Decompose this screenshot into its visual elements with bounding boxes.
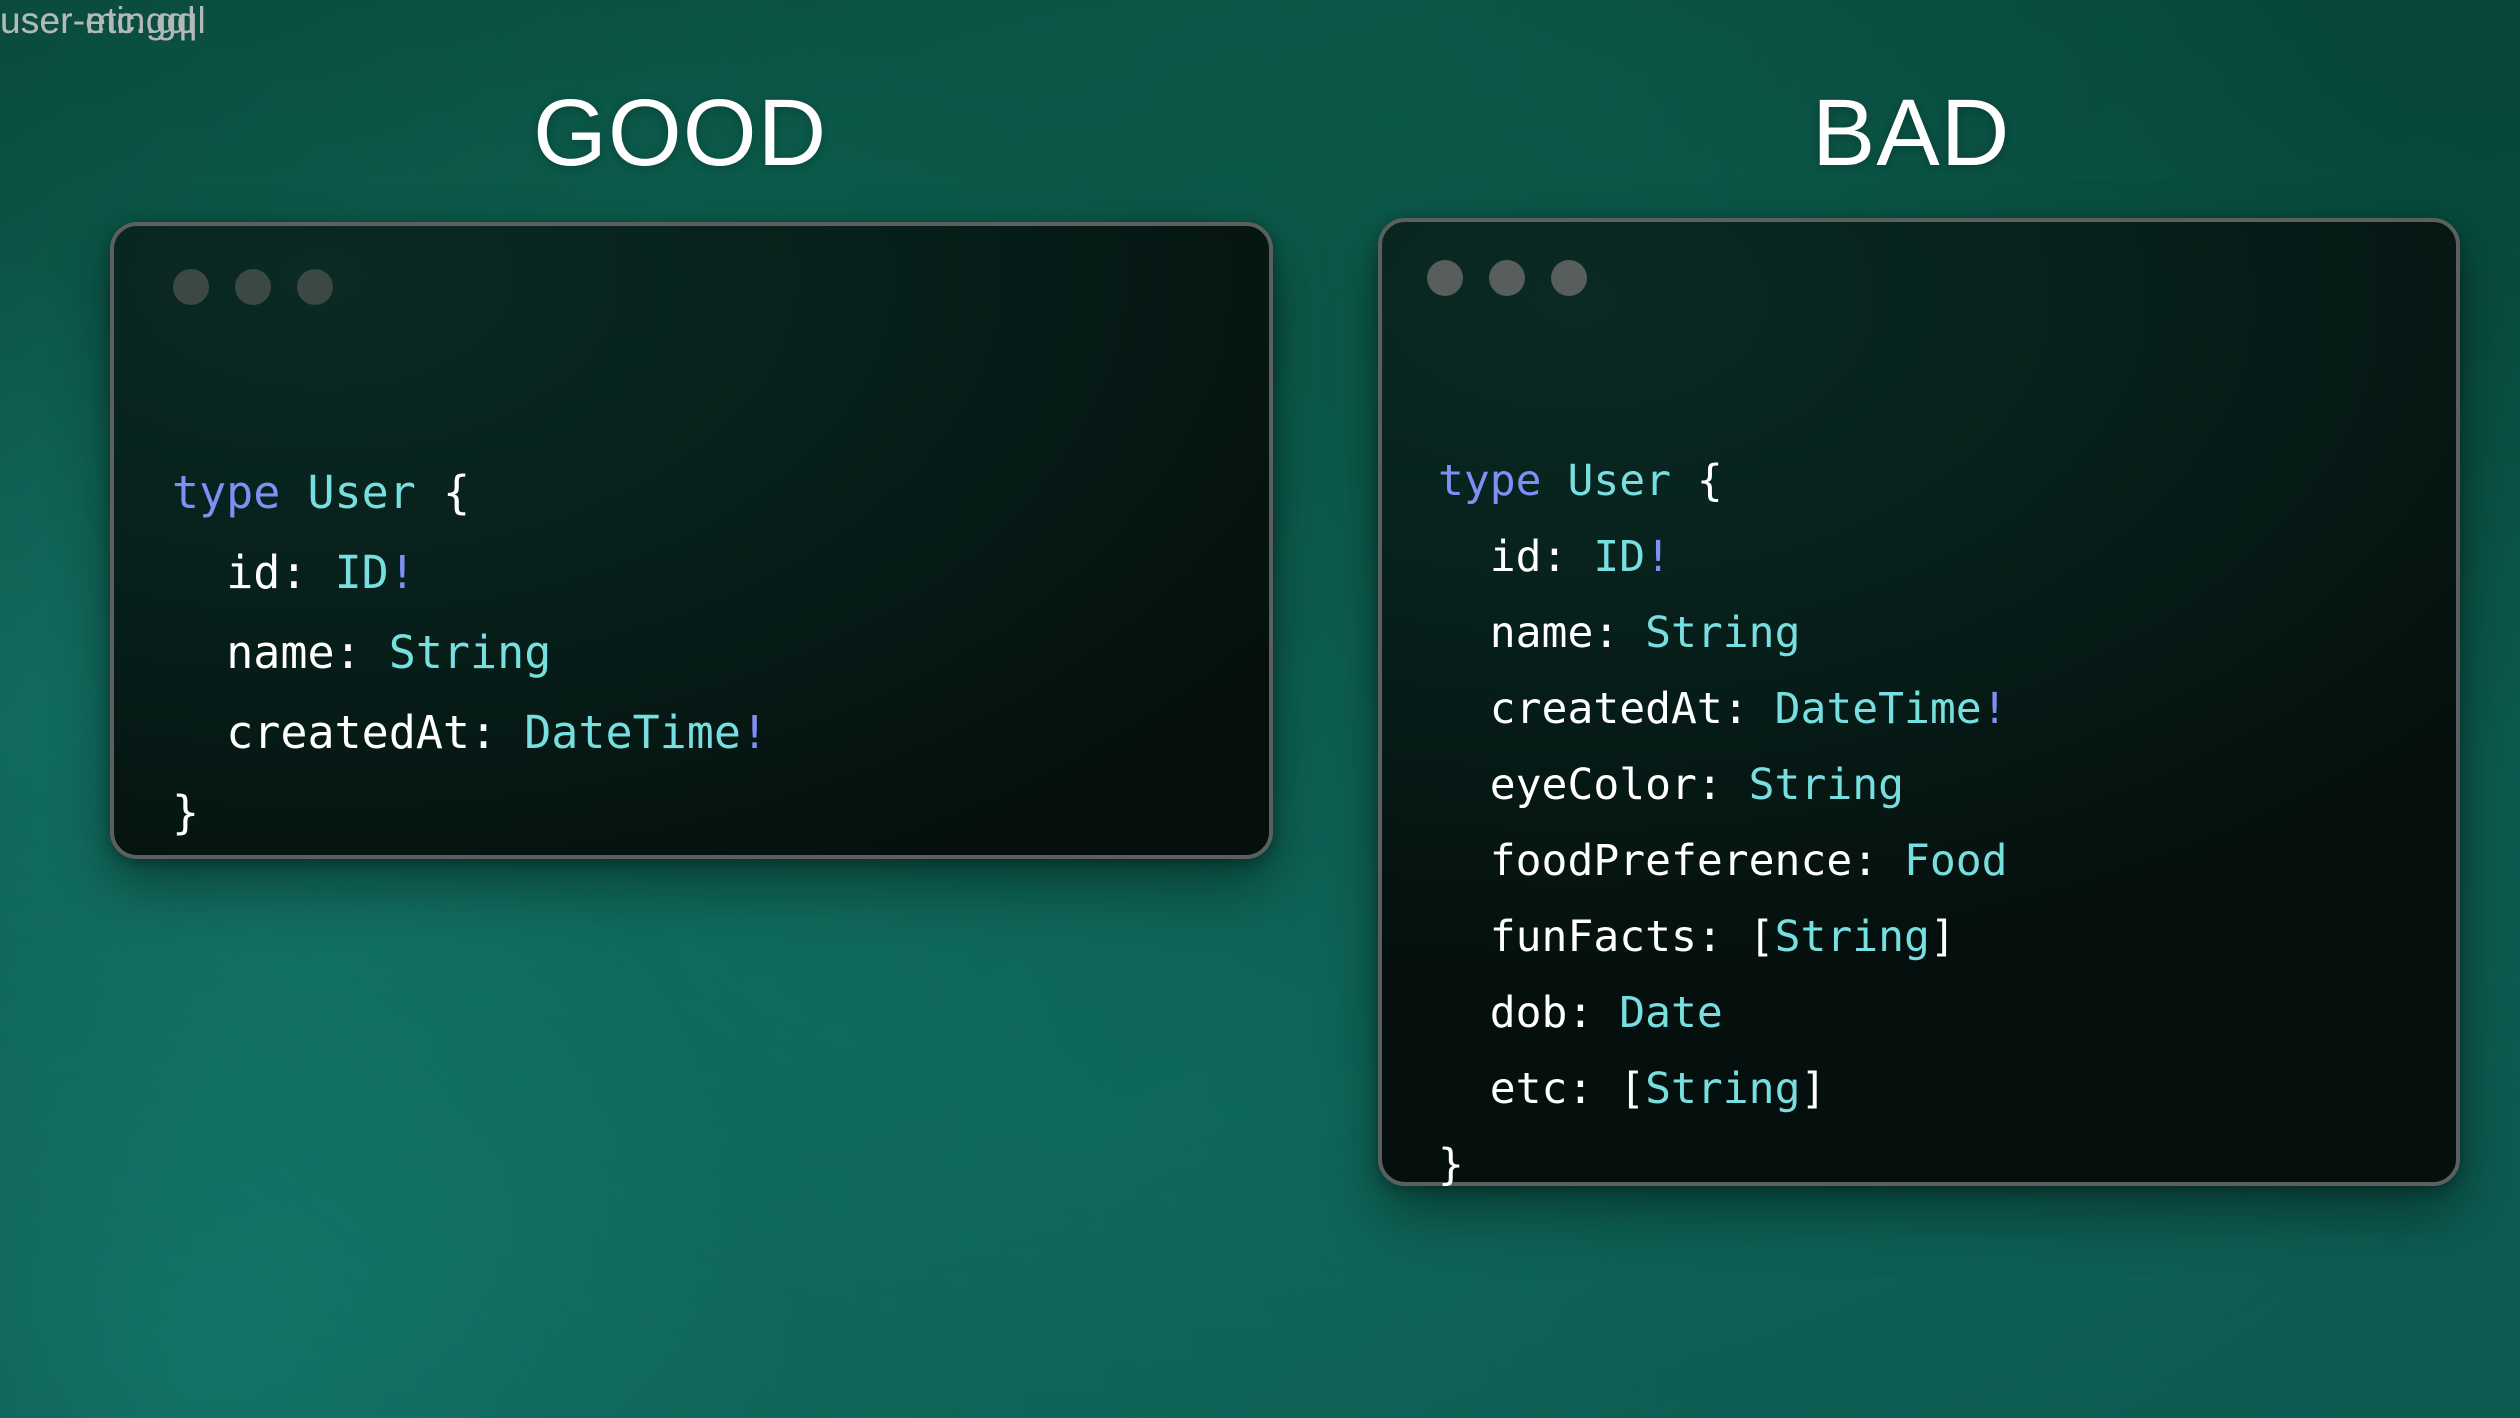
code-token-type: ID: [335, 546, 389, 599]
code-block-bad: type User { id: ID! name: String created…: [1438, 443, 2008, 1203]
code-token-field: id:: [226, 546, 307, 599]
code-token-punct: }: [172, 786, 199, 839]
code-token-bang: !: [389, 546, 416, 599]
slide-canvas: GOOD BAD user-min.gql type User { id: ID…: [0, 0, 2520, 1418]
code-token-field: name:: [226, 626, 361, 679]
close-dot-icon[interactable]: [173, 269, 209, 305]
code-token-type: String: [1645, 1064, 1800, 1114]
code-token-field: name:: [1490, 608, 1619, 658]
code-token-field: funFacts:: [1490, 912, 1723, 962]
heading-good: GOOD: [533, 86, 827, 181]
code-token-punct: }: [1438, 1140, 1464, 1190]
heading-bad: BAD: [1812, 86, 2010, 181]
code-token-type: String: [389, 626, 552, 679]
code-token-punct: {: [1697, 456, 1723, 506]
code-token-bracket: ]: [1800, 1064, 1826, 1114]
traffic-lights-bad: [1427, 260, 1587, 296]
code-token-type: Food: [1904, 836, 2008, 886]
minimize-dot-icon[interactable]: [235, 269, 271, 305]
minimize-dot-icon[interactable]: [1489, 260, 1525, 296]
maximize-dot-icon[interactable]: [297, 269, 333, 305]
traffic-lights-good: [173, 269, 333, 305]
code-token-field: dob:: [1490, 988, 1594, 1038]
titlebar-good: [114, 226, 1269, 330]
code-token-type: Date: [1619, 988, 1723, 1038]
code-token-keyword: type: [1438, 456, 1542, 506]
code-token-field: foodPreference:: [1490, 836, 1878, 886]
maximize-dot-icon[interactable]: [1551, 260, 1587, 296]
code-token-bang: !: [741, 706, 768, 759]
code-token-punct: {: [443, 466, 470, 519]
code-token-field: createdAt:: [226, 706, 497, 759]
code-token-bracket: [: [1619, 1064, 1645, 1114]
code-token-type: ID: [1593, 532, 1645, 582]
window-filename-bad: user-etc.gql: [0, 0, 196, 42]
code-token-type: String: [1749, 760, 1904, 810]
code-token-field: eyeColor:: [1490, 760, 1723, 810]
code-block-good: type User { id: ID! name: String created…: [172, 453, 768, 853]
code-token-bang: !: [1645, 532, 1671, 582]
code-token-type: DateTime: [524, 706, 741, 759]
code-token-keyword: type: [172, 466, 280, 519]
code-token-bracket: ]: [1930, 912, 1956, 962]
code-token-field: id:: [1490, 532, 1568, 582]
code-token-field: etc:: [1490, 1064, 1594, 1114]
close-dot-icon[interactable]: [1427, 260, 1463, 296]
code-token-bracket: [: [1749, 912, 1775, 962]
titlebar-bad: [1382, 222, 2456, 326]
code-token-type: User: [1567, 456, 1671, 506]
code-token-field: createdAt:: [1490, 684, 1749, 734]
code-token-type: User: [307, 466, 415, 519]
code-token-type: String: [1775, 912, 1930, 962]
code-token-bang: !: [1982, 684, 2008, 734]
code-token-type: DateTime: [1775, 684, 1982, 734]
code-token-type: String: [1645, 608, 1800, 658]
